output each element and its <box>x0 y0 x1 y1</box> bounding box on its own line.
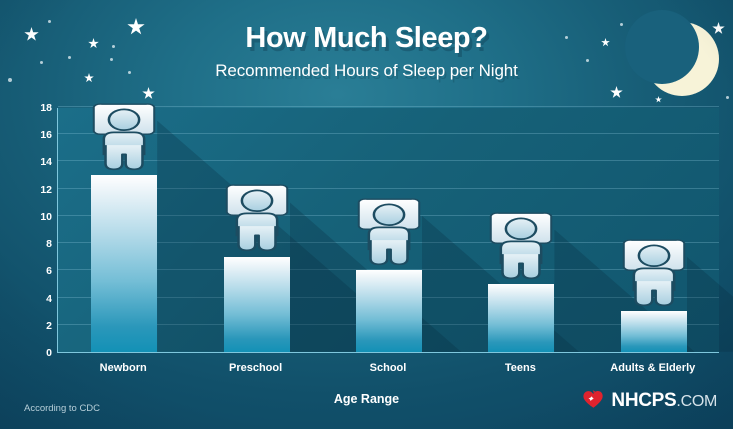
y-axis-tick-label: 8 <box>14 238 52 250</box>
y-axis-tick-label: 2 <box>14 320 52 332</box>
y-axis-ticks: 024681012141618 <box>0 108 733 353</box>
x-axis-tick-teens: Teens <box>454 362 586 374</box>
logo-text: NHCPS .COM <box>611 390 717 412</box>
nhcps-logo[interactable]: NHCPS .COM <box>580 388 717 414</box>
page-subtitle: Recommended Hours of Sleep per Night <box>0 61 733 81</box>
infographic-canvas: How Much Sleep? Recommended Hours of Sle… <box>0 0 733 429</box>
y-axis-tick-label: 14 <box>14 156 52 168</box>
x-axis-tick-preschool: Preschool <box>189 362 321 374</box>
header: How Much Sleep? Recommended Hours of Sle… <box>0 22 733 81</box>
x-axis-tick-newborn: Newborn <box>57 362 189 374</box>
x-axis-tick-school: School <box>322 362 454 374</box>
heart-icon <box>580 388 606 414</box>
y-axis-tick-label: 18 <box>14 102 52 114</box>
y-axis-tick-label: 10 <box>14 211 52 223</box>
logo-brand: NHCPS <box>611 390 676 412</box>
page-title: How Much Sleep? <box>0 22 733 55</box>
y-axis-tick-label: 12 <box>14 184 52 196</box>
y-axis-tick-label: 4 <box>14 293 52 305</box>
logo-tld: .COM <box>676 393 717 411</box>
y-axis-tick-label: 6 <box>14 265 52 277</box>
y-axis-tick-label: 16 <box>14 129 52 141</box>
y-axis-tick-label: 0 <box>14 347 52 359</box>
x-axis-tick-adults-elderly: Adults & Elderly <box>587 362 719 374</box>
source-note: According to CDC <box>24 403 100 414</box>
